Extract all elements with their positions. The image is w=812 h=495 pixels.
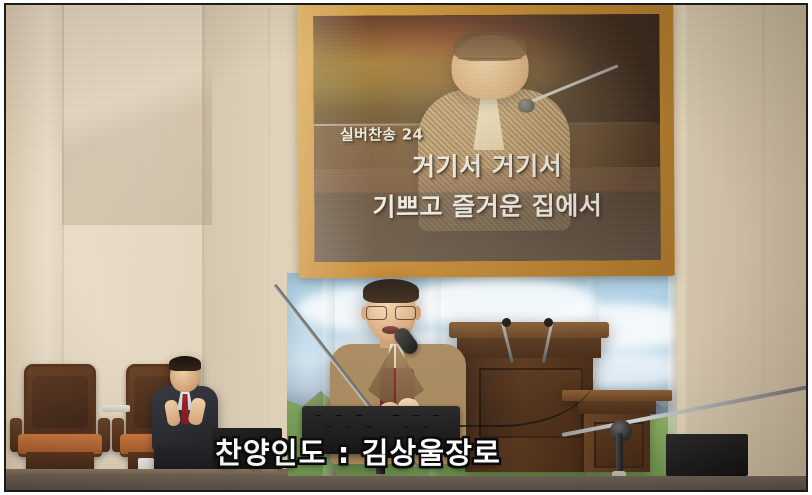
hymn-lyric-line-1: 거기서 거기서 [314, 146, 660, 184]
platform-edge [6, 469, 288, 476]
church-service-photo: 실버찬송 24 거기서 거기서 기쁘고 즐거운 집에서 [6, 5, 806, 490]
wall-seam [268, 5, 270, 490]
music-stand [302, 406, 460, 472]
photo-border: 실버찬송 24 거기서 거기서 기쁘고 즐거운 집에서 [4, 3, 808, 492]
side-lectern-neck [578, 400, 656, 414]
chair-back [24, 364, 96, 436]
projected-speaker-hair [453, 31, 526, 61]
wall-seam [762, 5, 765, 490]
wall-right-shadow [686, 5, 806, 490]
microphone-capsule [502, 318, 511, 327]
projection-screen-surface: 실버찬송 24 거기서 거기서 기쁘고 즐거운 집에서 [313, 14, 660, 262]
wall-diagonal-shadow [62, 5, 212, 225]
projection-screen-frame: 실버찬송 24 거기서 거기서 기쁘고 즐거운 집에서 [297, 5, 675, 278]
speaker-glasses [366, 306, 416, 319]
hymn-lyric-line-2: 기쁘고 즐거운 집에서 [314, 186, 660, 224]
stage-floor [6, 476, 806, 490]
seated-man-hair [169, 356, 201, 371]
music-stand-post [376, 452, 385, 474]
speaker-hair [363, 279, 419, 303]
microphone-capsule [544, 318, 553, 327]
table-item [102, 405, 130, 412]
music-stand-plate [302, 406, 460, 454]
chair-cushion [18, 434, 102, 454]
empty-chair [24, 344, 96, 476]
projected-speaker-glasses [457, 58, 523, 70]
hymn-number-label: 실버찬송 24 [340, 124, 424, 146]
dark-equipment-box [666, 434, 748, 476]
music-stand-perforations [308, 411, 454, 433]
